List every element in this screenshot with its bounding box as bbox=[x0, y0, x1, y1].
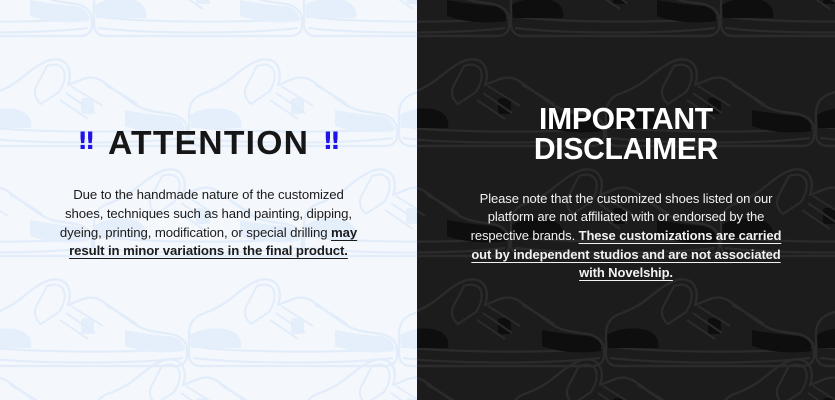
disclaimer-heading: IMPORTANT DISCLAIMER bbox=[534, 104, 718, 165]
disclaimer-heading-line-1: IMPORTANT bbox=[534, 104, 718, 134]
attention-body: Due to the handmade nature of the custom… bbox=[54, 186, 364, 261]
attention-title: ATTENTION bbox=[108, 126, 309, 159]
disclaimer-panel: IMPORTANT DISCLAIMER Please note that th… bbox=[417, 0, 835, 400]
double-exclamation-icon-right: ‼ bbox=[324, 129, 338, 153]
attention-body-normal: Due to the handmade nature of the custom… bbox=[60, 187, 352, 239]
disclaimer-heading-line-2: DISCLAIMER bbox=[534, 134, 718, 164]
disclaimer-body: Please note that the customized shoes li… bbox=[465, 190, 787, 284]
double-exclamation-icon-left: ‼ bbox=[79, 129, 93, 153]
disclaimer-content: IMPORTANT DISCLAIMER Please note that th… bbox=[417, 0, 835, 400]
attention-content: ‼ ATTENTION ‼ Due to the handmade nature… bbox=[0, 0, 417, 400]
disclaimer-banner: ‼ ATTENTION ‼ Due to the handmade nature… bbox=[0, 0, 835, 400]
attention-panel: ‼ ATTENTION ‼ Due to the handmade nature… bbox=[0, 0, 417, 400]
attention-heading: ‼ ATTENTION ‼ bbox=[79, 126, 338, 159]
